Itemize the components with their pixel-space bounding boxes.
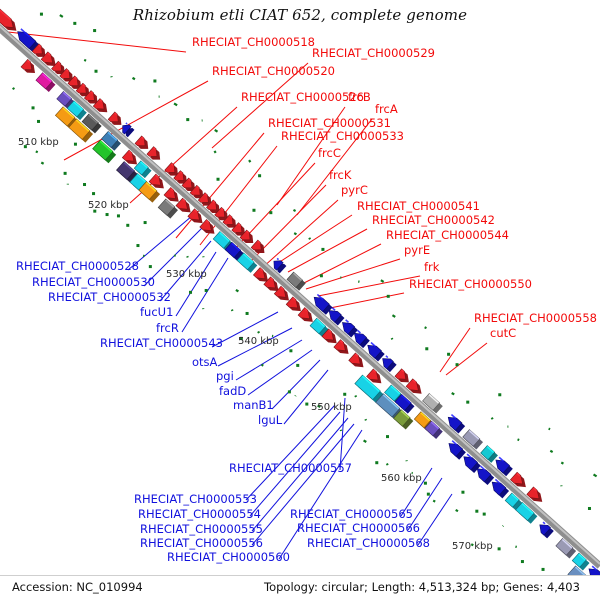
- gene-label[interactable]: RHECIAT_CH0000566: [297, 523, 420, 535]
- gene-label[interactable]: frcK: [329, 170, 351, 182]
- gene-label[interactable]: RHECIAT_CH0000555: [140, 524, 263, 536]
- gene-label[interactable]: RHECIAT_CH0000560: [167, 552, 290, 564]
- gene-label[interactable]: RHECIAT_CH0000528: [16, 261, 139, 273]
- gene-label[interactable]: RHECIAT_CH0000550: [409, 279, 532, 291]
- gene-label[interactable]: frcB: [348, 92, 371, 104]
- status-bar: Accession: NC_010994 Topology: circular;…: [0, 575, 600, 600]
- gene-label[interactable]: RHECIAT_CH0000543: [100, 338, 223, 350]
- gene-label[interactable]: RHECIAT_CH0000526: [241, 92, 364, 104]
- gene-label[interactable]: RHECIAT_CH0000554: [138, 509, 261, 521]
- gene-label[interactable]: RHECIAT_CH0000544: [386, 230, 509, 242]
- gene-label[interactable]: RHECIAT_CH0000518: [192, 37, 315, 49]
- accession-text: Accession: NC_010994: [12, 580, 143, 594]
- gene-label[interactable]: fadD: [219, 386, 246, 398]
- gene-label[interactable]: RHECIAT_CH0000556: [140, 538, 263, 550]
- gene-label[interactable]: RHECIAT_CH0000541: [357, 201, 480, 213]
- gene-label[interactable]: frcA: [375, 104, 398, 116]
- gene-label[interactable]: RHECIAT_CH0000553: [134, 494, 257, 506]
- gene-label[interactable]: RHECIAT_CH0000520: [212, 66, 335, 78]
- gene-label[interactable]: RHECIAT_CH0000532: [48, 292, 171, 304]
- gene-label[interactable]: frcR: [156, 323, 179, 335]
- genome-map-viewport[interactable]: Rhizobium etli CIAT 652, complete genome…: [0, 0, 600, 600]
- gene-label[interactable]: RHECIAT_CH0000531: [268, 118, 391, 130]
- gene-label[interactable]: fucU1: [140, 307, 173, 319]
- gene-label[interactable]: frcC: [318, 148, 341, 160]
- scale-tick-label: 540 kbp: [238, 336, 279, 348]
- gene-label[interactable]: manB1: [233, 400, 274, 412]
- gene-label[interactable]: RHECIAT_CH0000558: [474, 313, 597, 325]
- topology-text: Topology: circular; Length: 4,513,324 bp…: [264, 580, 580, 594]
- gene-label[interactable]: otsA: [192, 357, 217, 369]
- gene-label[interactable]: pyrC: [341, 185, 368, 197]
- gene-label[interactable]: RHECIAT_CH0000568: [307, 538, 430, 550]
- gene-label[interactable]: RHECIAT_CH0000533: [281, 131, 404, 143]
- gene-label[interactable]: RHECIAT_CH0000530: [32, 277, 155, 289]
- gene-label[interactable]: lguL: [258, 415, 282, 427]
- gene-label[interactable]: frk: [424, 262, 439, 274]
- gene-label[interactable]: RHECIAT_CH0000557: [229, 463, 352, 475]
- gene-label[interactable]: RHECIAT_CH0000529: [312, 48, 435, 60]
- gene-label[interactable]: pgi: [216, 371, 234, 383]
- scale-tick-label: 520 kbp: [88, 200, 129, 212]
- scale-tick-label: 510 kbp: [18, 137, 59, 149]
- scale-tick-label: 560 kbp: [381, 473, 422, 485]
- scale-tick-label: 550 kbp: [311, 402, 352, 414]
- gene-label[interactable]: pyrE: [404, 245, 430, 257]
- scale-tick-label: 570 kbp: [452, 541, 493, 553]
- gene-label[interactable]: RHECIAT_CH0000542: [372, 215, 495, 227]
- gene-label[interactable]: cutC: [490, 328, 516, 340]
- gene-label[interactable]: RHECIAT_CH0000565: [290, 509, 413, 521]
- scale-tick-label: 530 kbp: [166, 269, 207, 281]
